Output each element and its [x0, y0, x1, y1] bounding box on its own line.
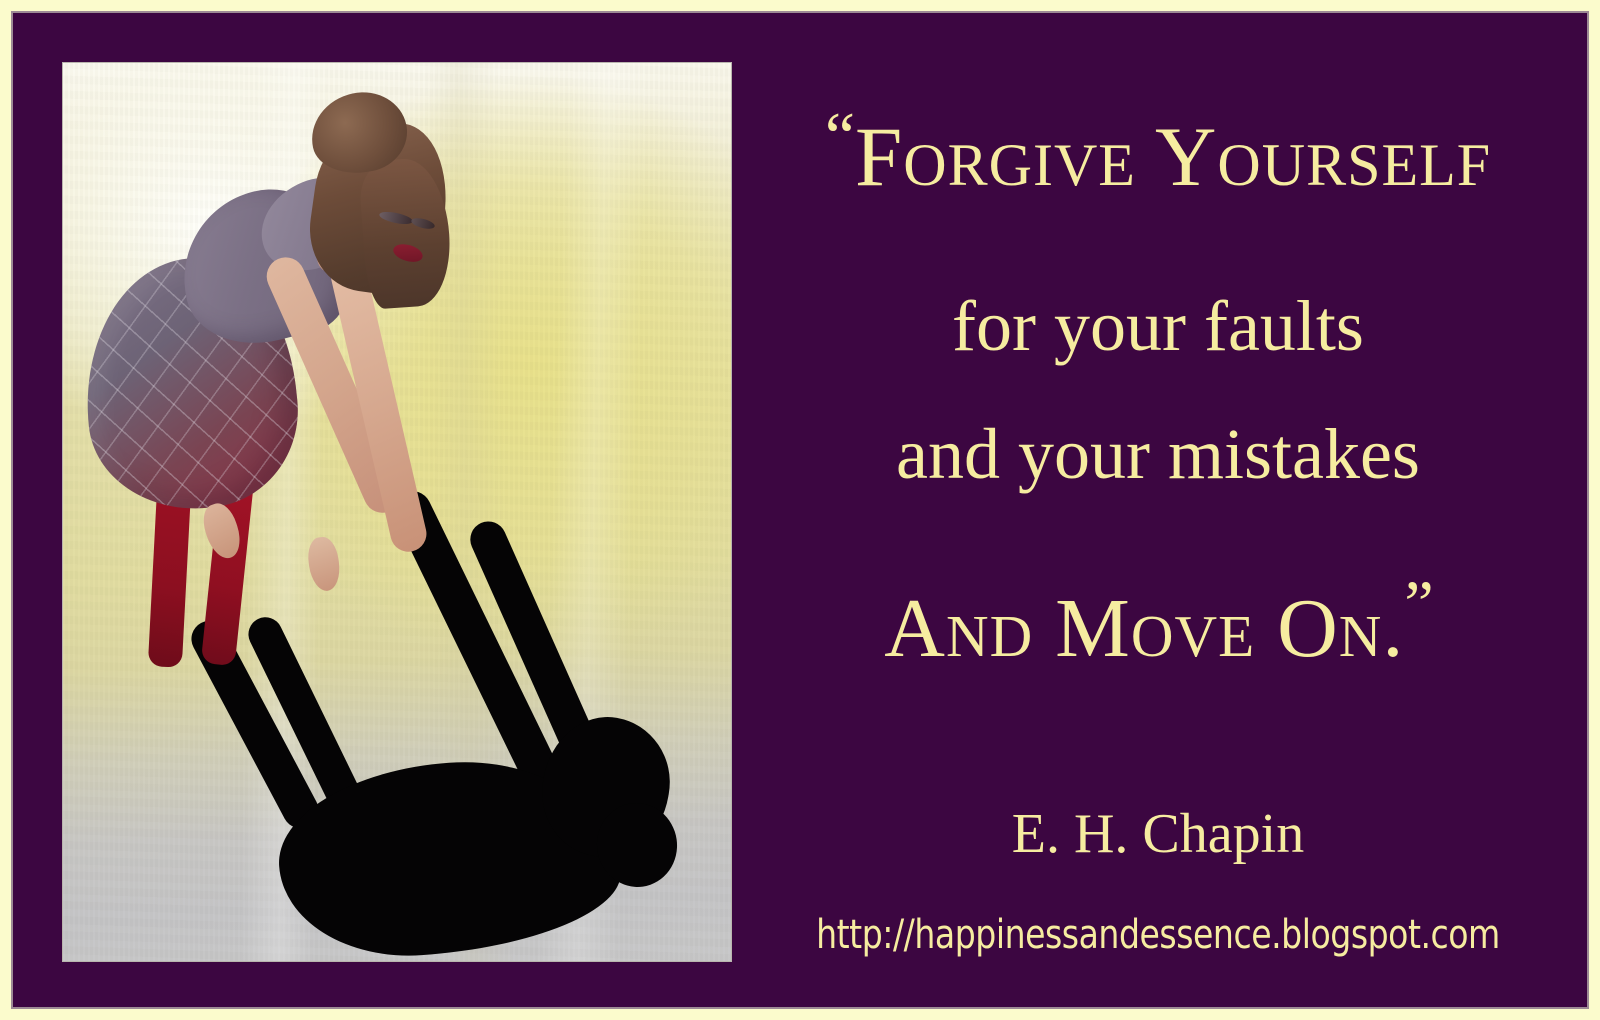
quote-line-1: “Forgive Yourself [748, 102, 1568, 200]
quote-line-3: and your mistakes [748, 418, 1568, 490]
quote-line-1-text: Forgive Yourself [855, 110, 1491, 204]
close-quote-mark: ” [1404, 568, 1431, 641]
quote-line-4: And Move On.” [748, 572, 1568, 671]
quote-line-4-text: And Move On. [884, 582, 1404, 675]
quote-text-block: “Forgive Yourself for your faults and yo… [748, 62, 1568, 962]
quote-author: E. H. Chapin [748, 802, 1568, 866]
quote-line-2: for your faults [748, 290, 1568, 362]
open-quote-mark: “ [825, 98, 853, 174]
purple-background-panel: “Forgive Yourself for your faults and yo… [11, 11, 1589, 1009]
quote-poster: “Forgive Yourself for your faults and yo… [0, 0, 1600, 1020]
blog-url[interactable]: http://happinessandessence.blogspot.com [781, 912, 1535, 958]
painting-canvas [63, 63, 731, 961]
artwork-image [62, 62, 732, 962]
